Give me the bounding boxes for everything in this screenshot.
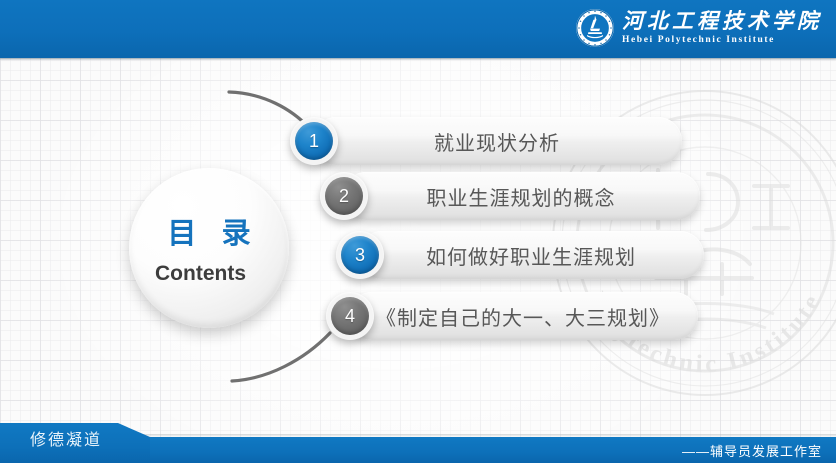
agenda-number-3: 3: [341, 236, 379, 274]
agenda-number-badge-4[interactable]: 4: [326, 292, 374, 340]
footer-motto: 修德凝道: [30, 426, 102, 450]
agenda-item-2[interactable]: 职业生涯规划的概念 2: [320, 172, 700, 220]
contents-badge: 目 录 Contents: [129, 168, 289, 328]
institution-logo-block: 河北工程技术学院 Hebei Polytechnic Institute: [575, 8, 822, 48]
contents-title-en: Contents: [155, 262, 263, 287]
university-seal-icon: [575, 8, 615, 48]
agenda-number-badge-2[interactable]: 2: [320, 172, 368, 220]
agenda-number-badge-1[interactable]: 1: [290, 117, 338, 165]
contents-title-cn: 目 录: [158, 210, 259, 252]
agenda-label-2: 职业生涯规划的概念: [342, 172, 700, 220]
agenda-number-4: 4: [331, 297, 369, 335]
institution-name-cn: 河北工程技术学院: [622, 11, 822, 32]
agenda-item-3[interactable]: 如何做好职业生涯规划 3: [336, 231, 704, 279]
agenda-item-1[interactable]: 就业现状分析 1: [290, 117, 682, 165]
agenda-number-1: 1: [295, 122, 333, 160]
agenda-label-3: 如何做好职业生涯规划: [358, 231, 704, 279]
agenda-number-badge-3[interactable]: 3: [336, 231, 384, 279]
institution-name-group: 河北工程技术学院 Hebei Polytechnic Institute: [622, 11, 822, 46]
agenda-label-1: 就业现状分析: [312, 117, 682, 165]
agenda-item-4[interactable]: 《制定自己的大一、大三规划》 4: [326, 292, 698, 340]
institution-name-en: Hebei Polytechnic Institute: [622, 36, 822, 46]
header-underline: [0, 58, 836, 60]
footer-attribution: ——辅导员发展工作室: [682, 441, 822, 460]
agenda-label-4: 《制定自己的大一、大三规划》: [348, 292, 698, 340]
agenda-number-2: 2: [325, 177, 363, 215]
presentation-slide: Polytechnic Institute: [0, 0, 836, 463]
